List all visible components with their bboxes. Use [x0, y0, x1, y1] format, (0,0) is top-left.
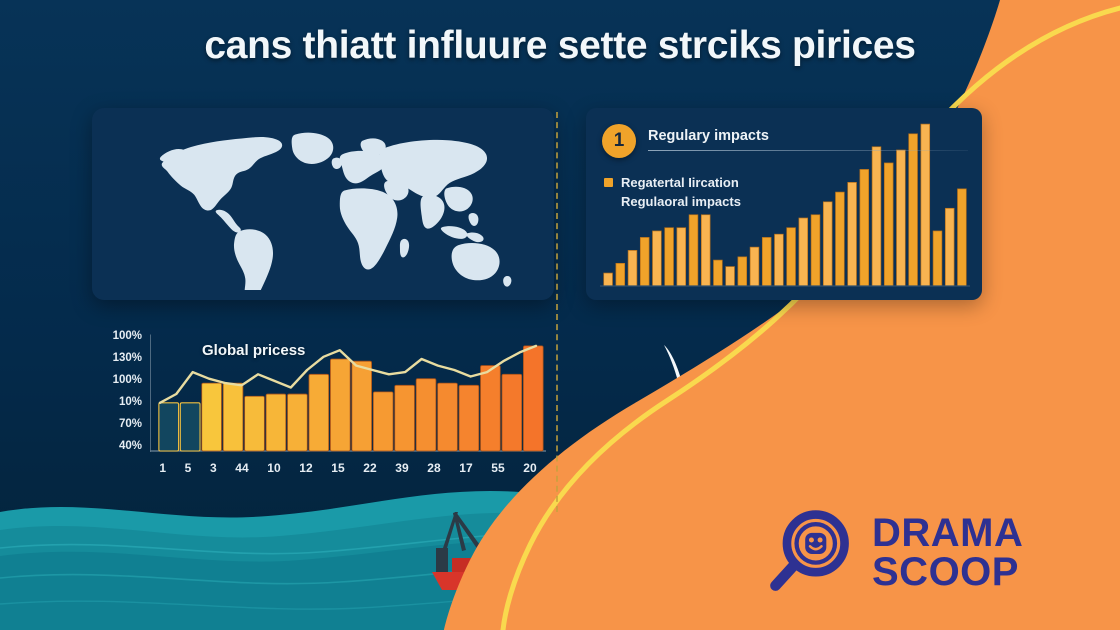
right-panel-heading: Regulary impacts	[648, 128, 769, 144]
magnifier-smiley-icon	[762, 505, 858, 601]
x-tick-label: 10	[267, 461, 280, 475]
x-tick-label: 20	[523, 461, 536, 475]
bullet-line-2: Regulaoral impacts	[621, 194, 741, 209]
y-axis-labels: 100%130%100%10%70%40%	[96, 330, 142, 452]
x-tick-label: 22	[363, 461, 376, 475]
y-tick-label: 130%	[113, 352, 142, 364]
x-tick-label: 17	[459, 461, 472, 475]
bullet-line-1: Regatertal Iircation	[621, 175, 739, 190]
x-axis-labels: 15344101215223928175520	[150, 458, 546, 478]
y-tick-label: 70%	[119, 418, 142, 430]
x-tick-label: 28	[427, 461, 440, 475]
x-tick-label: 39	[395, 461, 408, 475]
logo-line-1: DRAMA	[872, 514, 1023, 553]
global-prices-chart: 100%130%100%10%70%40% Global pricess 153…	[96, 330, 546, 480]
section-divider	[556, 112, 558, 512]
y-tick-label: 100%	[113, 374, 142, 386]
x-tick-label: 3	[210, 461, 217, 475]
world-map-icon	[100, 122, 546, 290]
x-tick-label: 15	[331, 461, 344, 475]
bullet-square-icon	[604, 178, 613, 187]
page-title: cans thiatt influure sette strciks piric…	[0, 24, 1120, 68]
regulatory-impacts-panel: 1 Regulary impacts Regatertal Iircation …	[586, 108, 982, 300]
brand-logo[interactable]: DRAMA SCOOP	[762, 498, 1062, 608]
y-tick-label: 10%	[119, 396, 142, 408]
x-tick-label: 12	[299, 461, 312, 475]
right-panel-bullets: Regatertal Iircation Regulaoral impacts	[604, 174, 834, 212]
y-tick-label: 100%	[113, 330, 142, 342]
logo-line-2: SCOOP	[872, 553, 1023, 592]
step-badge-1: 1	[602, 124, 636, 158]
series-label-global-prices: Global pricess	[202, 342, 305, 359]
x-tick-label: 1	[159, 461, 166, 475]
x-tick-label: 5	[185, 461, 192, 475]
x-tick-label: 44	[235, 461, 248, 475]
y-tick-label: 40%	[119, 440, 142, 452]
world-map-panel	[92, 108, 554, 300]
x-tick-label: 55	[491, 461, 504, 475]
right-panel-rule	[648, 150, 968, 151]
infographic-canvas: cans thiatt influure sette strciks piric…	[0, 0, 1120, 630]
